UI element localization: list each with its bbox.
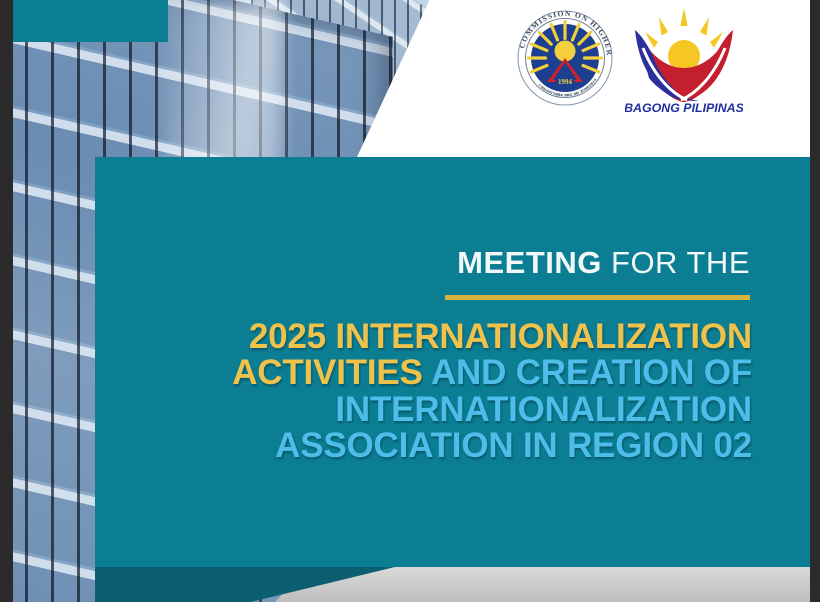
headline-line-3: INTERNATIONALIZATION: [112, 392, 752, 428]
frame-border-left: [0, 0, 13, 602]
ched-seal-icon: 1994 COMMISSION ON HIGHER EDUCATION REPU…: [511, 4, 619, 112]
bagong-pilipinas-icon: BAGONG PILIPINAS: [625, 4, 743, 114]
headline-line-3-blue: INTERNATIONALIZATION: [335, 390, 752, 429]
headline-line-1-gold: 2025 INTERNATIONALIZATION: [249, 317, 752, 356]
frame-border-right: [810, 0, 820, 602]
headline-line-2-blue: AND CREATION OF: [431, 353, 752, 392]
bagong-pilipinas-label: BAGONG PILIPINAS: [625, 101, 743, 114]
svg-text:1994: 1994: [558, 78, 573, 86]
headline-line-2-gold: ACTIVITIES: [232, 353, 431, 392]
headline-line-4: ASSOCIATION IN REGION 02: [112, 428, 752, 464]
eyebrow-strong: MEETING: [457, 245, 602, 280]
slide-canvas: 1994 COMMISSION ON HIGHER EDUCATION REPU…: [13, 0, 810, 602]
slide-frame: 1994 COMMISSION ON HIGHER EDUCATION REPU…: [0, 0, 820, 602]
headline-line-4-blue: ASSOCIATION IN REGION 02: [275, 426, 752, 465]
gold-divider-rule: [445, 295, 750, 300]
eyebrow-line: MEETING FOR THE: [457, 245, 750, 281]
eyebrow-light: FOR THE: [602, 245, 750, 280]
headline-line-2: ACTIVITIES AND CREATION OF: [112, 355, 752, 391]
headline-line-1: 2025 INTERNATIONALIZATION: [112, 319, 752, 355]
title-panel: MEETING FOR THE 2025 INTERNATIONALIZATIO…: [95, 157, 810, 567]
page-title: 2025 INTERNATIONALIZATION ACTIVITIES AND…: [112, 319, 752, 465]
logo-row: 1994 COMMISSION ON HIGHER EDUCATION REPU…: [511, 4, 756, 124]
accent-block-top-left: [13, 0, 168, 42]
